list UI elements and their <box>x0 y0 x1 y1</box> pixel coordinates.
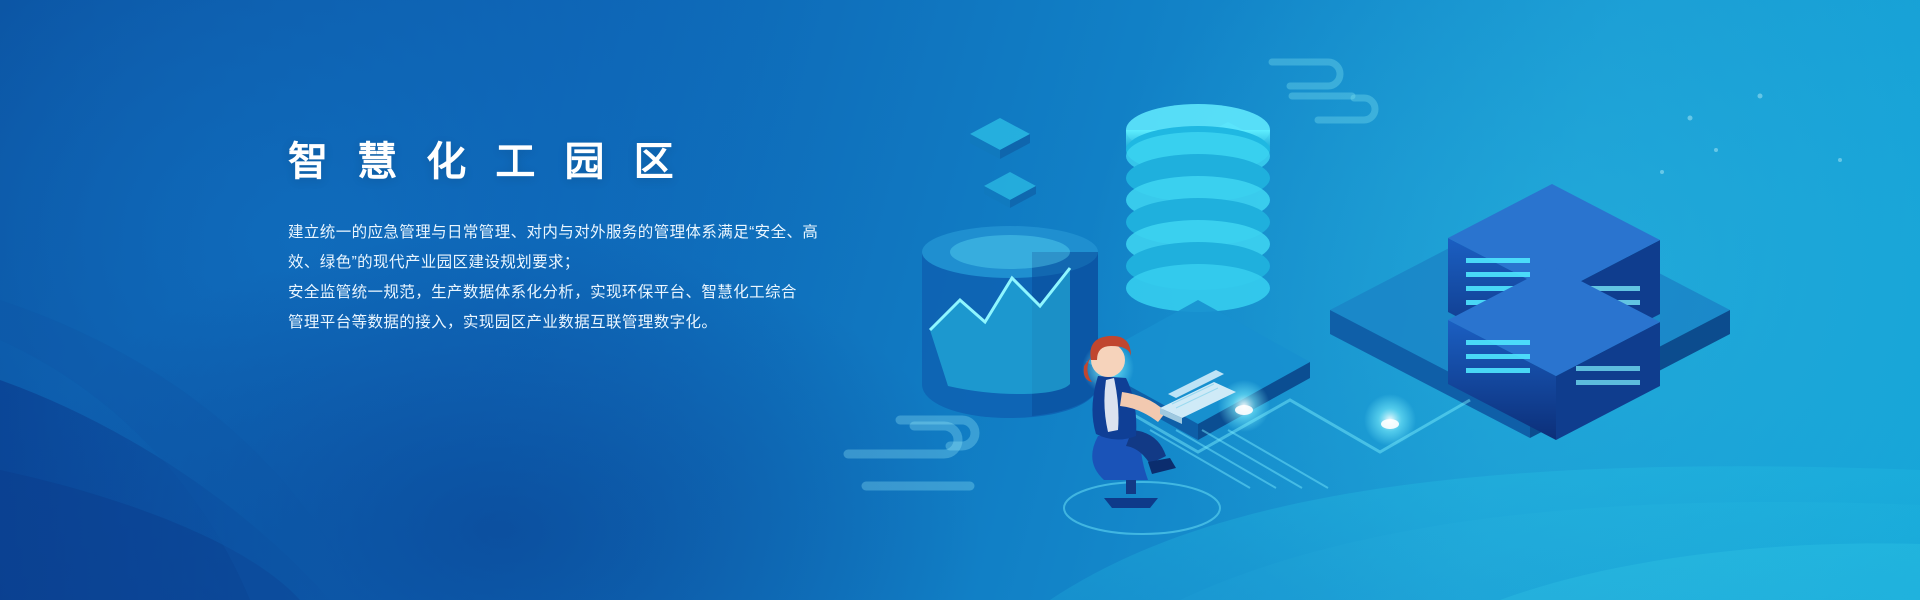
data-server-rack <box>1330 184 1730 440</box>
description-line: 管理平台等数据的接入，实现园区产业数据互联管理数字化。 <box>288 308 908 338</box>
description-line: 安全监管统一规范，生产数据体系化分析，实现环保平台、智慧化工综合 <box>288 278 908 308</box>
description-line: 效、绿色”的现代产业园区建设规划要求； <box>288 248 908 278</box>
page-title: 智 慧 化 工 园 区 <box>288 140 908 184</box>
data-stream-lines <box>1100 98 1346 212</box>
dashboard-screen-panel <box>922 226 1098 418</box>
background-glow-right <box>1020 0 1920 600</box>
seated-person-with-laptop <box>1064 336 1236 534</box>
hero-banner: 智 慧 化 工 园 区 建立统一的应急管理与日常管理、对内与对外服务的管理体系满… <box>0 0 1920 600</box>
floating-hexagon-platforms <box>970 118 1262 208</box>
glowing-connection-nodes <box>1082 342 1470 488</box>
hero-content: 智 慧 化 工 园 区 建立统一的应急管理与日常管理、对内与对外服务的管理体系满… <box>288 140 908 338</box>
description-line: 建立统一的应急管理与日常管理、对内与对外服务的管理体系满足“安全、高 <box>288 218 908 248</box>
cylindrical-data-tower <box>1086 104 1310 440</box>
page-description: 建立统一的应急管理与日常管理、对内与对外服务的管理体系满足“安全、高 效、绿色”… <box>288 218 908 338</box>
